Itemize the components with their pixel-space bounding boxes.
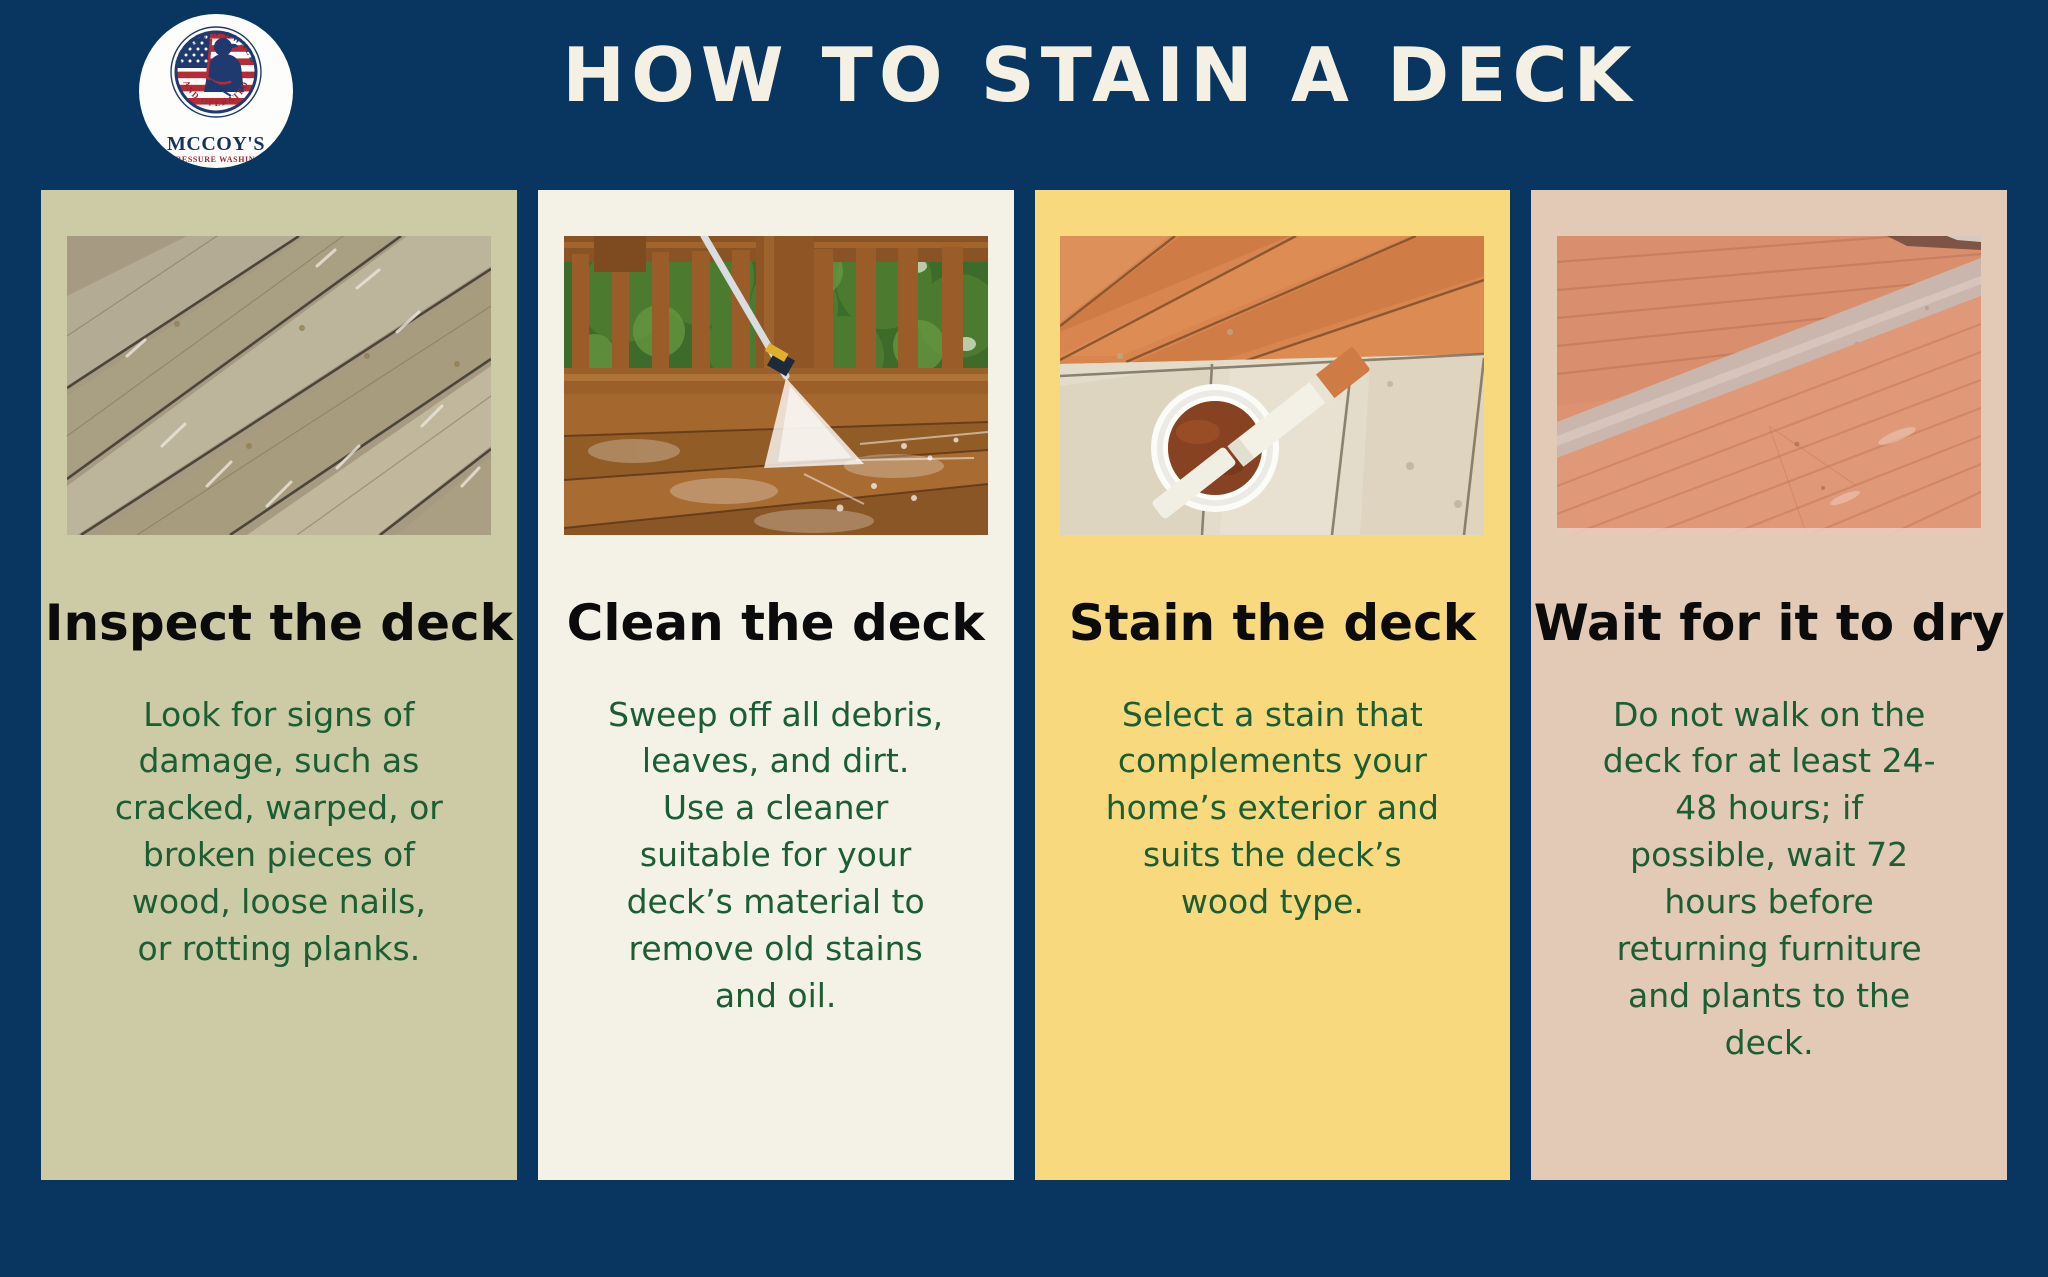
stain-can-and-brush-photo	[1060, 236, 1484, 535]
freshly-stained-deck-photo	[1557, 236, 1981, 535]
step-body: Select a stain that complements your hom…	[1104, 692, 1440, 926]
weathered-deck-boards-photo	[67, 236, 491, 535]
step-body: Look for signs of damage, such as cracke…	[111, 692, 447, 973]
step-card-dry: Wait for it to dry Do not walk on the de…	[1531, 190, 2007, 1180]
infographic-poster: VETERAN OWNED AND OPERATED MCCOY'S PRESS…	[0, 0, 2048, 1277]
step-body: Do not walk on the deck for at least 24-…	[1601, 692, 1937, 1067]
step-heading: Stain the deck	[1069, 597, 1476, 650]
page-title: HOW TO STAIN A DECK	[300, 36, 1900, 115]
step-body: Sweep off all debris, leaves, and dirt. …	[608, 692, 944, 1020]
steps-container: Inspect the deck Look for signs of damag…	[41, 190, 2007, 1180]
step-card-inspect: Inspect the deck Look for signs of damag…	[41, 190, 517, 1180]
logo-wordmark: MCCOY'S	[139, 134, 293, 154]
mccoys-logo: VETERAN OWNED AND OPERATED MCCOY'S PRESS…	[139, 14, 293, 168]
pressure-washing-deck-photo	[564, 236, 988, 535]
step-heading: Wait for it to dry	[1534, 597, 2005, 650]
logo-subtext: PRESSURE WASHING	[139, 156, 293, 164]
step-card-stain: Stain the deck Select a stain that compl…	[1035, 190, 1511, 1180]
step-heading: Inspect the deck	[45, 597, 513, 650]
step-card-clean: Clean the deck Sweep off all debris, lea…	[538, 190, 1014, 1180]
poster-header: VETERAN OWNED AND OPERATED MCCOY'S PRESS…	[0, 0, 2048, 190]
step-heading: Clean the deck	[567, 597, 985, 650]
